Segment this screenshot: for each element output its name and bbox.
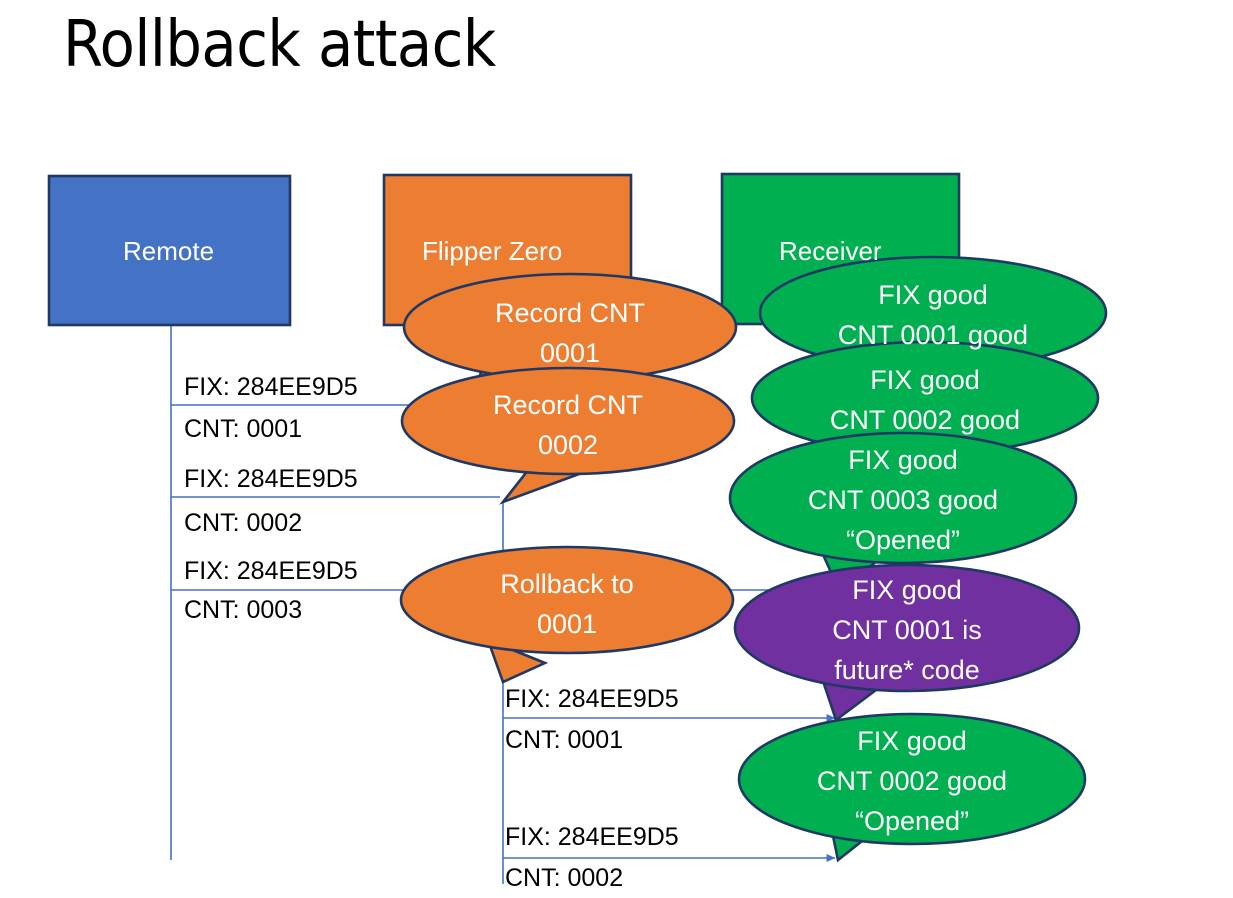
bubble-flipper-record-0002[interactable]: [402, 368, 734, 502]
sequence-diagram: [0, 0, 1233, 898]
bubble-receiver-cnt-0001-future[interactable]: [735, 565, 1079, 720]
actor-box-remote[interactable]: [49, 176, 290, 325]
slide-canvas: Rollback attack: [0, 0, 1233, 898]
bubble-receiver-cnt-0002-good-opened[interactable]: [739, 714, 1085, 860]
bubble-flipper-rollback-0001[interactable]: [401, 547, 733, 682]
